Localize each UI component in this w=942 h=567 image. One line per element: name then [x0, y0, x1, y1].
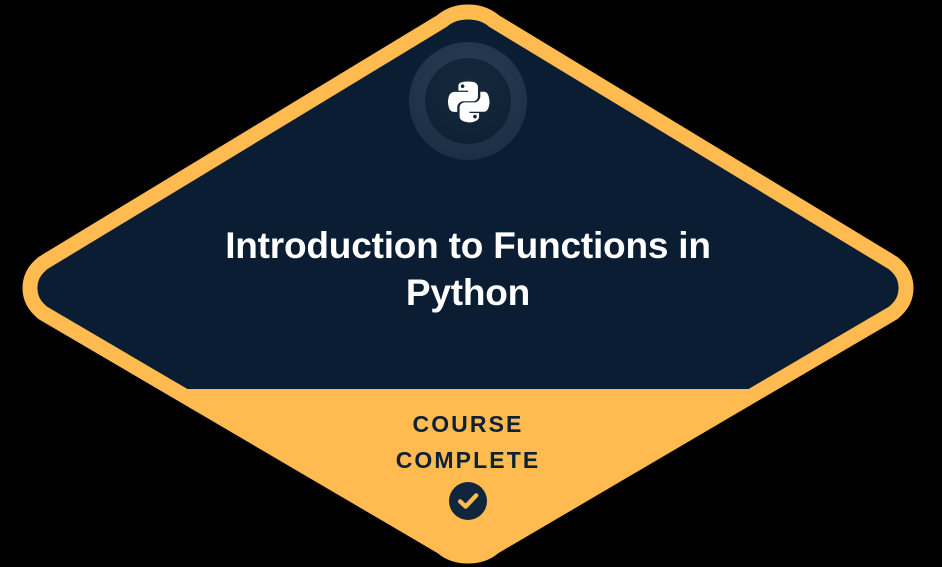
- course-completion-badge: Introduction to Functions in Python COUR…: [0, 0, 942, 567]
- badge-body-fill: [0, 0, 942, 567]
- badge-graphic: [0, 0, 942, 567]
